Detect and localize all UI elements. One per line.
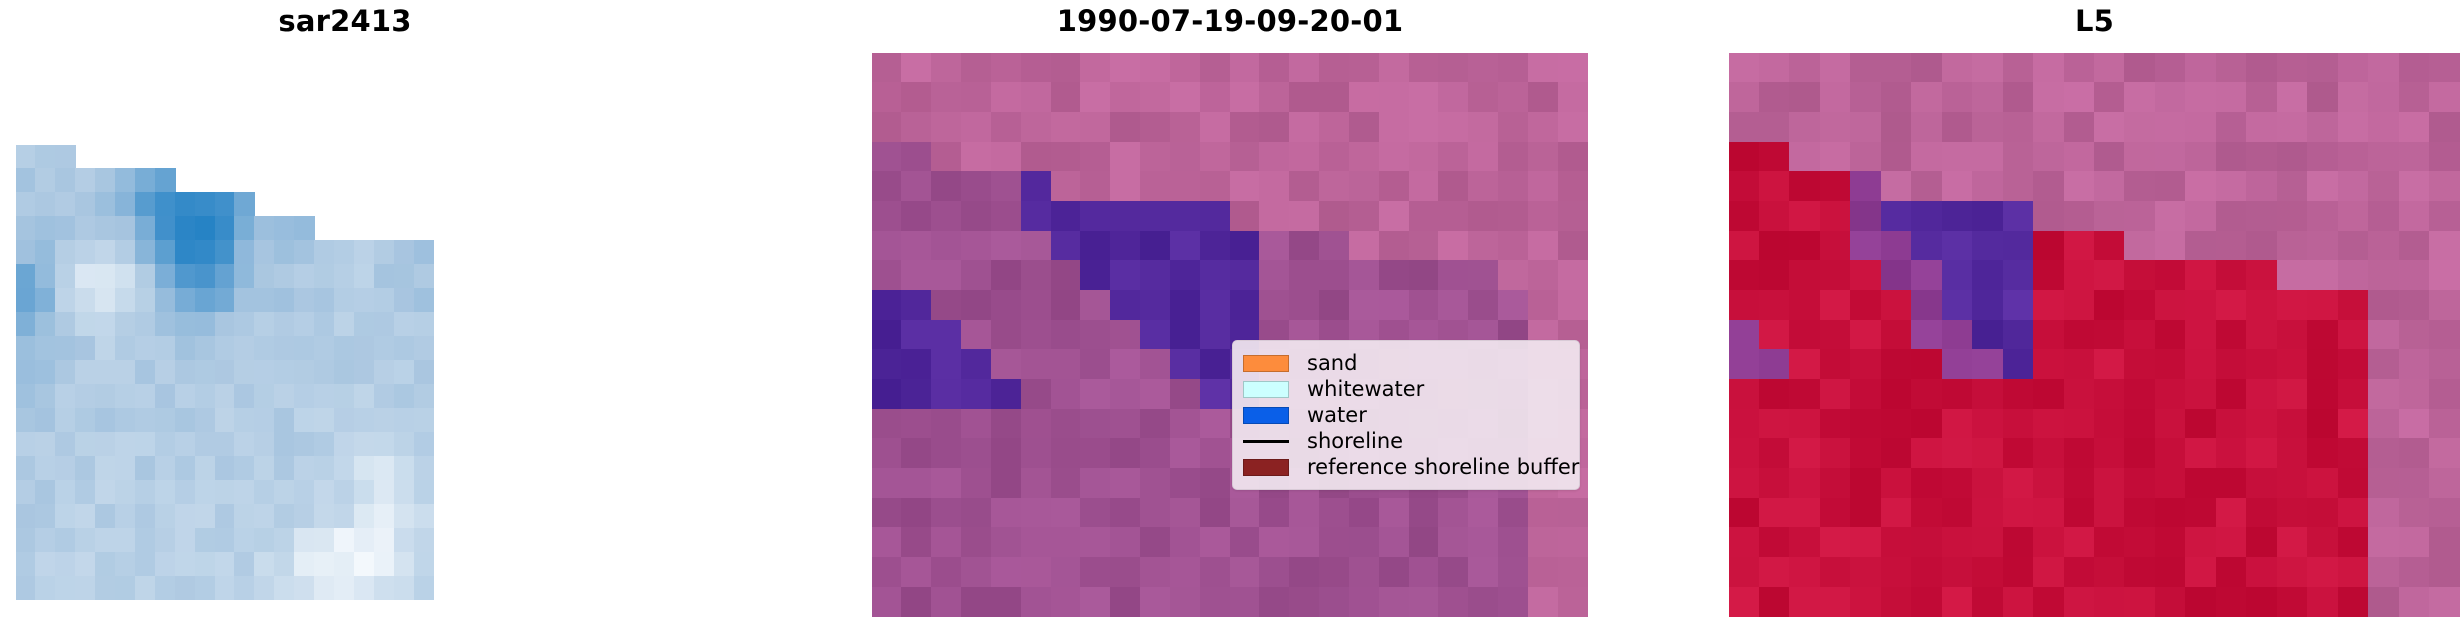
legend-label-reference-shoreline-buffer: reference shoreline buffer [1307,455,1579,479]
shoreline-line-icon [1243,433,1289,450]
legend-box: sand whitewater water shoreline referenc… [1232,340,1580,490]
legend-item-reference-shoreline-buffer: reference shoreline buffer [1243,454,1567,480]
l5-raster [1729,53,2460,617]
panel-title-l5: L5 [1729,4,2460,38]
legend-item-sand: sand [1243,350,1567,376]
sar-raster-canvas [16,145,434,600]
panel-title-sar2413: sar2413 [0,4,690,38]
legend-item-shoreline: shoreline [1243,428,1567,454]
water-swatch-icon [1243,407,1289,424]
legend-label-sand: sand [1307,351,1357,375]
sar-raster [16,145,434,600]
legend-item-water: water [1243,402,1567,428]
rgb-raster [872,53,1588,617]
legend-label-shoreline: shoreline [1307,429,1403,453]
reference-shoreline-buffer-swatch-icon [1243,459,1289,476]
legend-label-water: water [1307,403,1367,427]
whitewater-swatch-icon [1243,381,1289,398]
sand-swatch-icon [1243,355,1289,372]
l5-raster-canvas [1729,53,2460,617]
legend-label-whitewater: whitewater [1307,377,1424,401]
figure-root: sar2413 1990-07-19-09-20-01 L5 sand whit… [0,0,2460,630]
rgb-raster-canvas [872,53,1588,617]
panel-title-date: 1990-07-19-09-20-01 [872,4,1588,38]
legend-item-whitewater: whitewater [1243,376,1567,402]
